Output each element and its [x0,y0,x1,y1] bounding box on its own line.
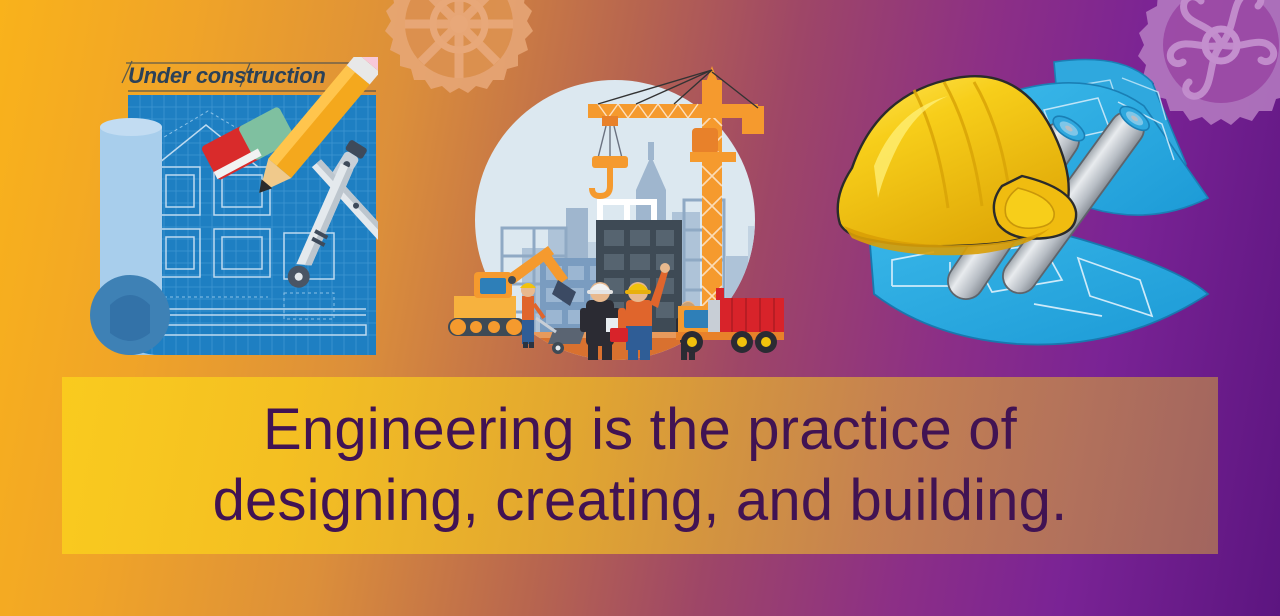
caption-line-1: Engineering is the practice of [263,395,1017,466]
hardhat-and-blueprints-illustration [822,48,1222,360]
construction-site-illustration [440,60,790,360]
engineering-banner: Under construction [0,0,1280,616]
caption-line-2: designing, creating, and building. [213,466,1068,537]
blueprint-with-tools-illustration [88,57,378,355]
caption-band: Engineering is the practice of designing… [62,377,1218,554]
under-construction-label: Under construction [128,63,326,89]
